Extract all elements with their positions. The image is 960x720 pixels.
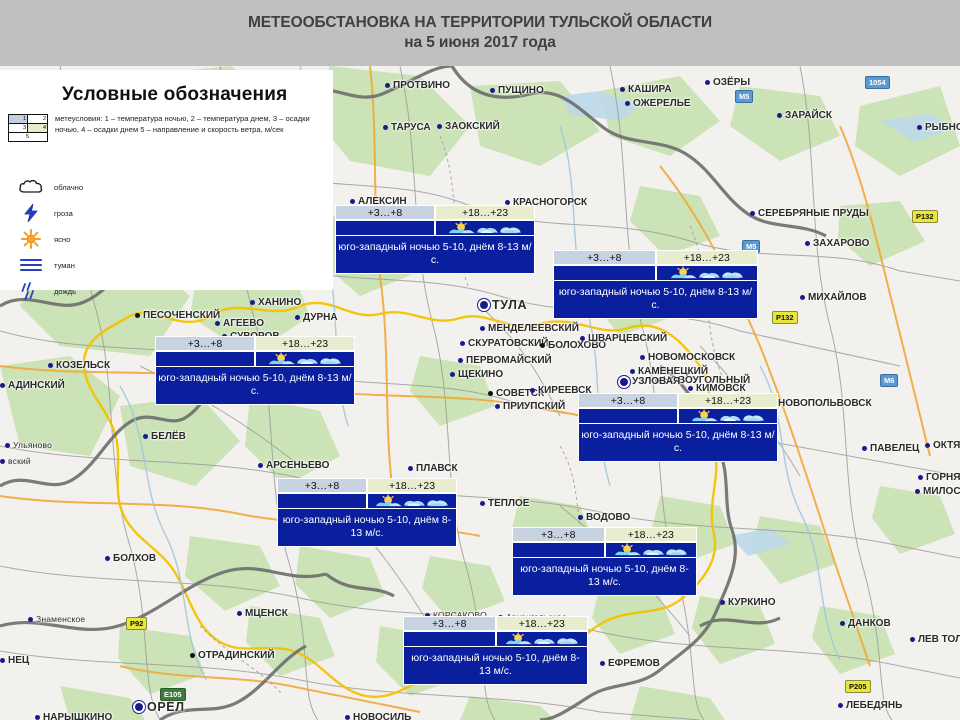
legend-cell-4: 4 — [28, 124, 47, 133]
fog-icon — [8, 257, 54, 273]
cloud-icon — [698, 267, 720, 280]
callout-south-west[interactable]: +3…+8+18…+23юго-западный ночью 5-10, днё… — [277, 478, 457, 547]
temp-day-cell: +18…+23 — [255, 336, 355, 351]
cloud-icon — [477, 222, 499, 235]
cloud-icon — [297, 353, 319, 366]
temp-day-cell: +18…+23 — [435, 205, 535, 220]
sun-cloud-icon — [505, 633, 533, 646]
legend-title: Условные обозначения — [62, 84, 287, 106]
precip-night-cell — [403, 631, 496, 647]
legend-row-fog: туман — [8, 252, 328, 278]
legend-label-rain: дождь — [54, 287, 76, 296]
temp-day-cell: +18…+23 — [678, 393, 778, 408]
callout-south[interactable]: +3…+8+18…+23юго-западный ночью 5-10, днё… — [403, 616, 588, 685]
temp-day-cell: +18…+23 — [656, 250, 759, 265]
callout-north-west[interactable]: +3…+8+18…+23юго-западный ночью 5-10, днё… — [335, 205, 535, 274]
legend-row-clear: ясно — [8, 226, 328, 252]
cloud-icon — [720, 410, 742, 423]
cloud-icon — [665, 544, 687, 557]
precip-day-cell — [605, 542, 698, 558]
wind-text: юго-западный ночью 5-10, днём 8-13 м/с. — [277, 509, 457, 547]
wind-text: юго-западный ночью 5-10, днём 8-13 м/с. — [155, 367, 355, 405]
precip-day-cell — [367, 493, 457, 509]
wind-text: юго-западный ночью 5-10, днём 8-13 м/с. — [335, 236, 535, 274]
precip-day-icons — [375, 495, 449, 508]
page-title-line2: на 5 июня 2017 года — [404, 33, 556, 53]
precip-night-cell — [553, 265, 656, 281]
sun-cloud-icon — [448, 222, 476, 235]
temp-day-cell: +18…+23 — [605, 527, 698, 542]
legend-cell-3: 3 — [9, 124, 28, 133]
legend-description: метеусловия: 1 – температура ночью, 2 – … — [55, 114, 325, 135]
weather-map-page: МЕТЕООБСТАНОВКА НА ТЕРРИТОРИИ ТУЛЬСКОЙ О… — [0, 0, 960, 720]
wind-text: юго-западный ночью 5-10, днём 8-13 м/с. — [512, 558, 697, 596]
cloud-icon — [721, 267, 743, 280]
temp-day-cell: +18…+23 — [496, 616, 589, 631]
wind-text: юго-западный ночью 5-10, днём 8-13 м/с. — [553, 281, 758, 319]
precip-night-cell — [335, 220, 435, 236]
legend-cell-2: 2 — [28, 115, 47, 124]
cloud-icon — [533, 633, 555, 646]
temp-night-cell: +3…+8 — [335, 205, 435, 220]
legend-label-clear: ясно — [54, 235, 70, 244]
precip-night-cell — [277, 493, 367, 509]
callout-east[interactable]: +3…+8+18…+23юго-западный ночью 5-10, днё… — [578, 393, 778, 462]
sun-cloud-icon — [614, 544, 642, 557]
sun-cloud-icon — [375, 495, 403, 508]
lightning-icon — [8, 203, 54, 223]
legend-row-cloudy: облачно — [8, 174, 328, 200]
temp-night-cell: +3…+8 — [512, 527, 605, 542]
callout-north-east[interactable]: +3…+8+18…+23юго-западный ночью 5-10, днё… — [553, 250, 758, 319]
precip-day-cell — [496, 631, 589, 647]
rain-icon — [8, 281, 54, 301]
sun-cloud-icon — [670, 267, 698, 280]
precip-day-icons — [505, 633, 579, 646]
precip-day-icons — [614, 544, 688, 557]
wind-text: юго-западный ночью 5-10, днём 8-13 м/с. — [578, 424, 778, 462]
legend-cell-5: 5 — [9, 133, 47, 141]
callout-west[interactable]: +3…+8+18…+23юго-западный ночью 5-10, днё… — [155, 336, 355, 405]
precip-night-cell — [578, 408, 678, 424]
temp-night-cell: +3…+8 — [277, 478, 367, 493]
legend-panel: Условные обозначения 1 2 3 4 5 метеуслов… — [0, 70, 333, 290]
precip-day-cell — [656, 265, 759, 281]
precip-day-icons — [268, 353, 342, 366]
temp-night-cell: +3…+8 — [403, 616, 496, 631]
temp-day-cell: +18…+23 — [367, 478, 457, 493]
cloud-icon — [556, 633, 578, 646]
sun-cloud-icon — [268, 353, 296, 366]
precip-day-cell — [255, 351, 355, 367]
precip-day-cell — [435, 220, 535, 236]
legend-cell-1: 1 — [9, 115, 28, 124]
sun-icon — [8, 229, 54, 249]
legend-label-thunderstorm: гроза — [54, 209, 73, 218]
temp-night-cell: +3…+8 — [578, 393, 678, 408]
precip-night-cell — [155, 351, 255, 367]
legend-row-thunderstorm: гроза — [8, 200, 328, 226]
cloud-icon — [404, 495, 426, 508]
cloud-icon — [427, 495, 449, 508]
precip-day-icons — [691, 410, 765, 423]
cloud-icon — [743, 410, 765, 423]
temp-night-cell: +3…+8 — [155, 336, 255, 351]
cloud-icon — [500, 222, 522, 235]
temp-night-cell: +3…+8 — [553, 250, 656, 265]
legend-label-cloudy: облачно — [54, 183, 83, 192]
cloud-icon — [642, 544, 664, 557]
legend-label-fog: туман — [54, 261, 75, 270]
precip-day-icons — [448, 222, 522, 235]
legend-schema-table-icon: 1 2 3 4 5 — [8, 114, 48, 142]
precip-night-cell — [512, 542, 605, 558]
precip-day-cell — [678, 408, 778, 424]
callout-south-east[interactable]: +3…+8+18…+23юго-западный ночью 5-10, днё… — [512, 527, 697, 596]
legend-row-rain: дождь — [8, 278, 328, 304]
cloud-icon — [8, 179, 54, 195]
sun-cloud-icon — [691, 410, 719, 423]
cloud-icon — [320, 353, 342, 366]
page-header: МЕТЕООБСТАНОВКА НА ТЕРРИТОРИИ ТУЛЬСКОЙ О… — [0, 0, 960, 66]
precip-day-icons — [670, 267, 744, 280]
wind-text: юго-западный ночью 5-10, днём 8-13 м/с. — [403, 647, 588, 685]
page-title-line1: МЕТЕООБСТАНОВКА НА ТЕРРИТОРИИ ТУЛЬСКОЙ О… — [248, 13, 712, 33]
